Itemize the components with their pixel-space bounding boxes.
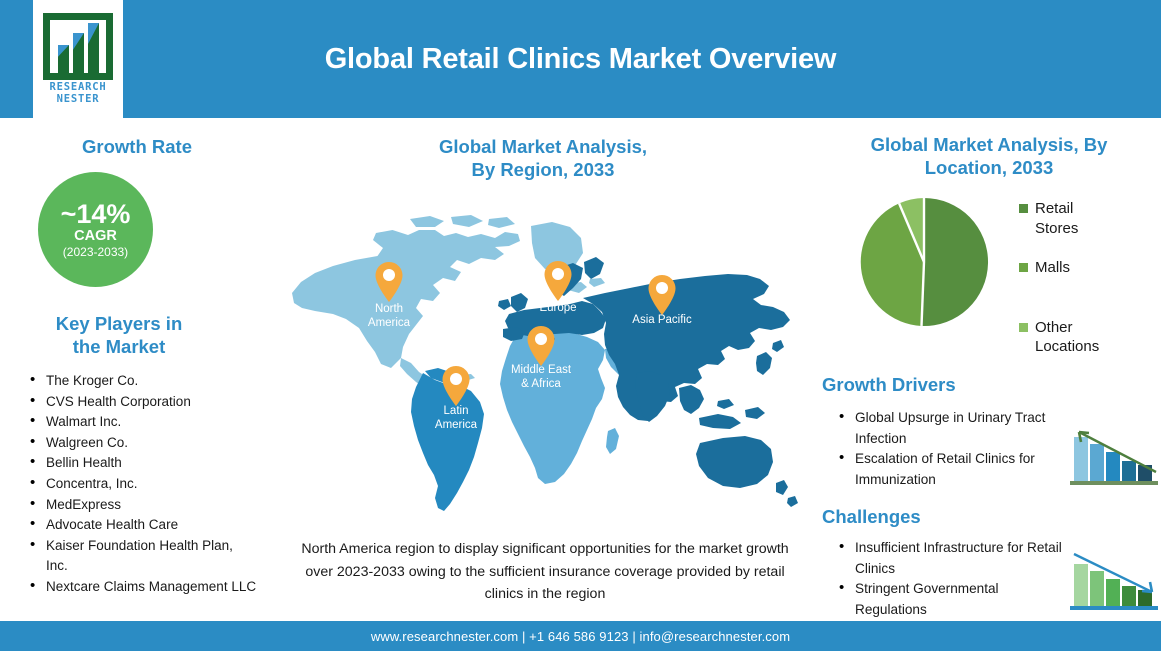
map-heading: Global Market Analysis,By Region, 2033 xyxy=(388,135,698,181)
growth-drivers-list: Global Upsurge in Urinary Tract Infectio… xyxy=(838,408,1066,490)
list-item: CVS Health Corporation xyxy=(28,392,258,413)
list-item: Insufficient Infrastructure for Retail C… xyxy=(838,538,1066,579)
bar xyxy=(1074,437,1088,481)
list-item: Stringent Governmental Regulations xyxy=(838,579,1066,620)
world-map: NorthAmerica Europe Asia Pacific Middle … xyxy=(285,208,805,520)
challenges-list: Insufficient Infrastructure for Retail C… xyxy=(838,538,1066,620)
key-players-heading-text: Key Players inthe Market xyxy=(56,313,183,357)
map-pin-asia-pacific[interactable] xyxy=(647,274,677,316)
list-item: Nextcare Claims Management LLC xyxy=(28,577,258,598)
legend-item-malls: Malls xyxy=(1019,258,1159,278)
map-pin-latin-america[interactable] xyxy=(441,365,471,407)
list-item: The Kroger Co. xyxy=(28,371,258,392)
page-title: Global Retail Clinics Market Overview xyxy=(0,0,1161,118)
list-item: Kaiser Foundation Health Plan, Inc. xyxy=(28,536,258,577)
list-item: Concentra, Inc. xyxy=(28,474,258,495)
growth-rate-heading: Growth Rate xyxy=(32,135,242,158)
legend-label: Malls xyxy=(1035,258,1070,278)
list-item: Bellin Health xyxy=(28,453,258,474)
map-pin-middle-east-africa[interactable] xyxy=(526,325,556,367)
map-pin-north-america[interactable] xyxy=(374,261,404,303)
pie-chart-legend: RetailStores Malls OtherLocations xyxy=(1019,199,1159,357)
legend-swatch-icon xyxy=(1019,204,1028,213)
list-item: Advocate Health Care xyxy=(28,515,258,536)
list-item: MedExpress xyxy=(28,495,258,516)
growth-drivers-mini-chart xyxy=(1068,425,1160,487)
map-label-north-america: NorthAmerica xyxy=(344,303,434,330)
cagr-metric-label: CAGR xyxy=(74,228,117,245)
map-caption: North America region to display signific… xyxy=(300,538,790,606)
challenges-mini-chart xyxy=(1068,550,1160,612)
legend-item-retail-stores: RetailStores xyxy=(1019,199,1159,238)
bar xyxy=(1106,579,1120,606)
legend-item-other-locations: OtherLocations xyxy=(1019,318,1159,357)
list-item: Escalation of Retail Clinics for Immuniz… xyxy=(838,449,1066,490)
map-label-asia-pacific: Asia Pacific xyxy=(617,314,707,328)
pie-chart xyxy=(858,196,990,328)
map-label-europe: Europe xyxy=(513,302,603,316)
legend-swatch-icon xyxy=(1019,323,1028,332)
key-players-heading: Key Players inthe Market xyxy=(14,312,224,358)
map-label-middle-east-africa: Middle East& Africa xyxy=(496,364,586,391)
footer-contact-bar: www.researchnester.com | +1 646 586 9123… xyxy=(0,621,1161,651)
legend-swatch-icon xyxy=(1019,263,1028,272)
baseline xyxy=(1070,606,1158,610)
bar xyxy=(1106,452,1120,481)
list-item: Walgreen Co. xyxy=(28,433,258,454)
bar xyxy=(1090,444,1104,481)
key-players-list: The Kroger Co. CVS Health Corporation Wa… xyxy=(28,371,258,598)
legend-label: RetailStores xyxy=(1035,199,1078,238)
bar xyxy=(1122,461,1136,481)
cagr-period: (2023-2033) xyxy=(63,245,128,260)
cagr-percent: ~14% xyxy=(61,200,131,228)
header-bar: RESEARCH NESTER Global Retail Clinics Ma… xyxy=(0,0,1161,118)
growth-drivers-heading: Growth Drivers xyxy=(822,373,956,396)
baseline xyxy=(1070,481,1158,485)
bar xyxy=(1122,586,1136,606)
challenges-heading: Challenges xyxy=(822,505,921,528)
pie-chart-svg xyxy=(858,196,990,328)
pie-slice-retail-stores xyxy=(922,198,989,326)
map-pin-europe[interactable] xyxy=(543,260,573,302)
map-label-latin-america: LatinAmerica xyxy=(411,405,501,432)
legend-label: OtherLocations xyxy=(1035,318,1099,357)
list-item: Global Upsurge in Urinary Tract Infectio… xyxy=(838,408,1066,449)
pie-chart-heading: Global Market Analysis, ByLocation, 2033 xyxy=(822,133,1156,179)
bar xyxy=(1074,564,1088,606)
list-item: Walmart Inc. xyxy=(28,412,258,433)
cagr-badge: ~14% CAGR (2023-2033) xyxy=(38,172,153,287)
bar xyxy=(1090,571,1104,606)
